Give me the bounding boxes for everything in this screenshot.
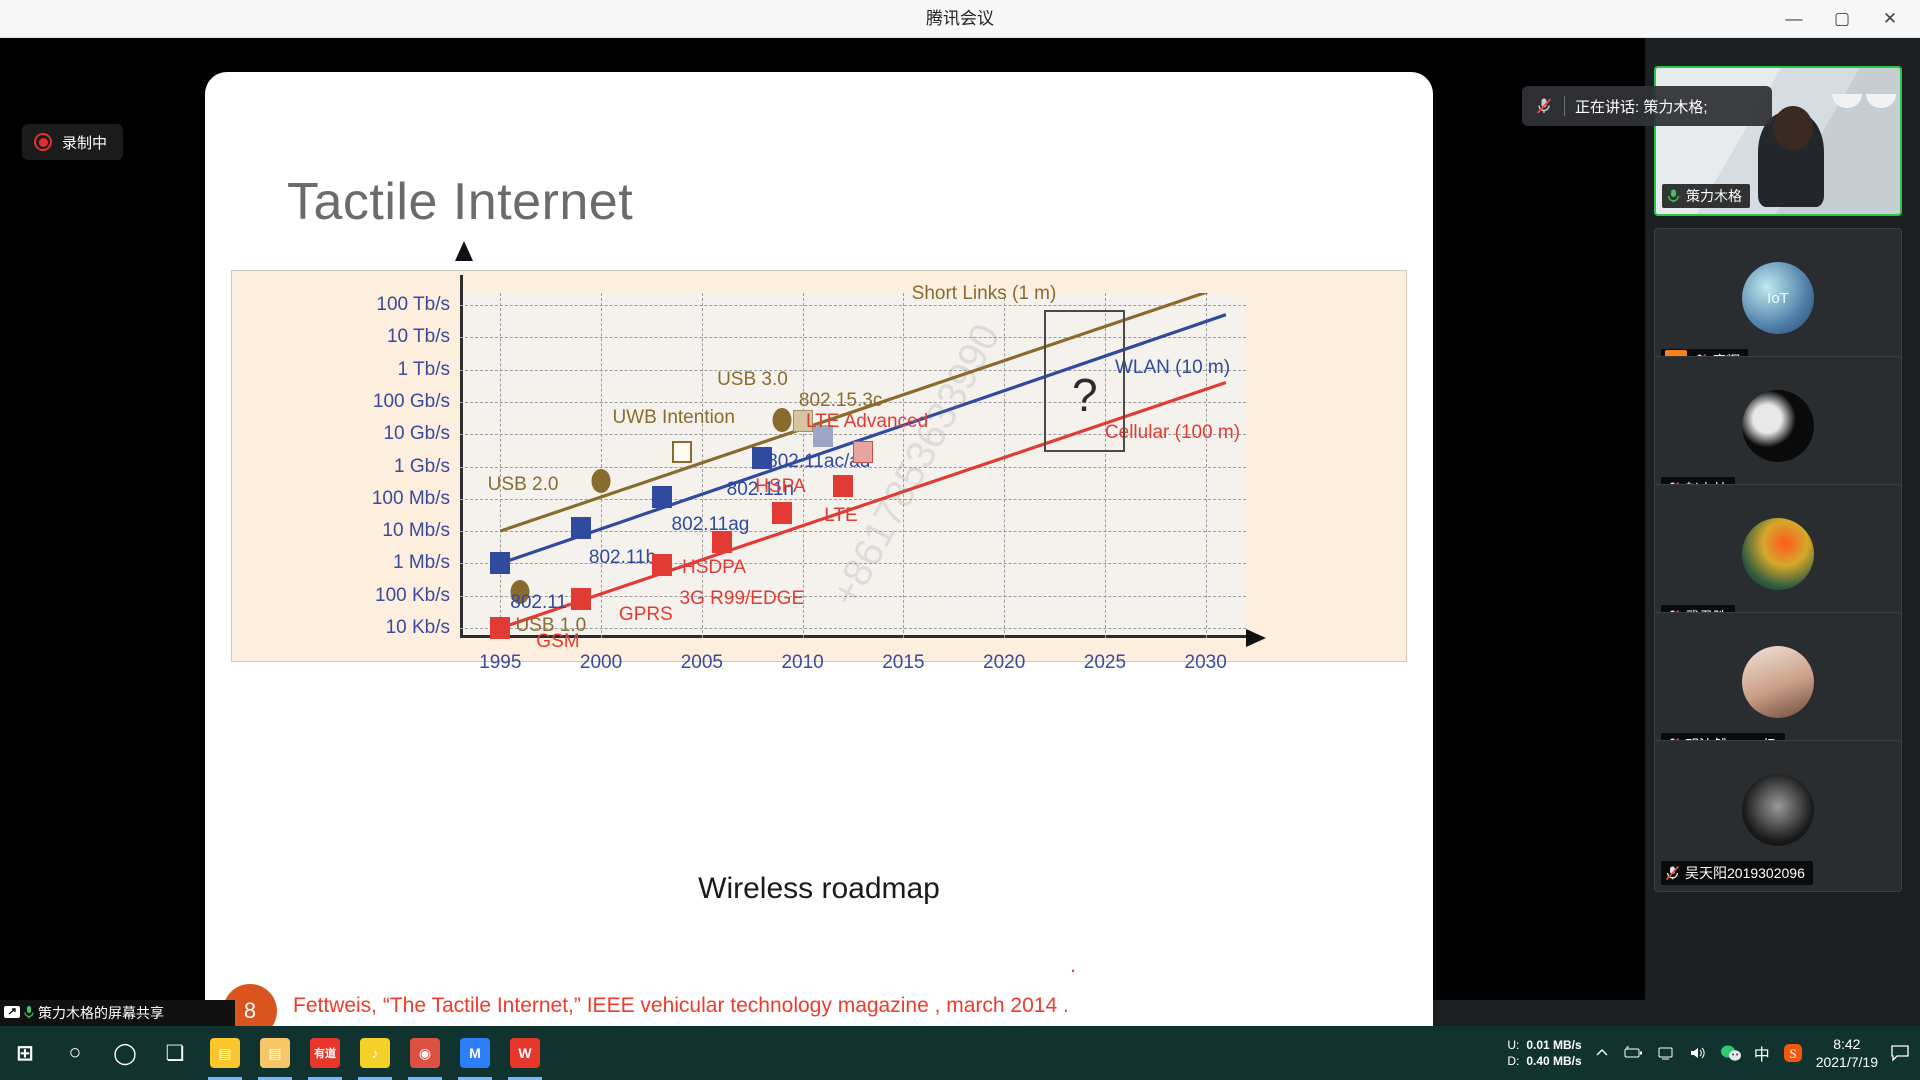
ime-indicator[interactable]: 中 bbox=[1754, 1041, 1770, 1065]
data-point-marker bbox=[773, 408, 792, 432]
y-axis-tick-label: 10 Kb/s bbox=[386, 617, 450, 639]
search-icon: ○ bbox=[60, 1038, 90, 1068]
youdao-app[interactable]: 有道 bbox=[300, 1026, 350, 1080]
data-point-marker bbox=[490, 617, 510, 639]
network-speed-widget: U:0.01 MB/s D:0.40 MB/s bbox=[1507, 1037, 1581, 1069]
volume-icon[interactable] bbox=[1688, 1045, 1708, 1061]
start-button[interactable]: ⊞ bbox=[0, 1026, 50, 1080]
x-axis-tick-label: 2005 bbox=[681, 652, 723, 674]
y-axis-tick-label: 10 Gb/s bbox=[383, 423, 450, 445]
app-title: 腾讯会议 bbox=[0, 0, 1920, 38]
window-controls: — ▢ ✕ bbox=[1772, 0, 1912, 38]
slide-title: Tactile Internet bbox=[287, 172, 633, 232]
slide-citation: Fettweis, “The Tactile Internet,” IEEE v… bbox=[293, 994, 1069, 1018]
data-point-label: LTE Advanced bbox=[806, 411, 928, 433]
record-icon bbox=[34, 133, 52, 151]
y-axis-tick-label: 1 Gb/s bbox=[394, 456, 450, 478]
data-point-marker bbox=[652, 486, 672, 508]
wps-app[interactable]: W bbox=[500, 1026, 550, 1080]
meeting-window: 录制中 Tactile Internet 10 Kb/s100 Kb/s1 Mb… bbox=[0, 38, 1920, 1038]
speaking-text: 正在讲话: 策力木格; bbox=[1575, 96, 1708, 117]
series-legend-label: WLAN (10 m) bbox=[1115, 357, 1230, 379]
x-axis-tick-label: 2020 bbox=[983, 652, 1025, 674]
data-point-label: 802.11b bbox=[589, 547, 656, 569]
mic-muted-icon bbox=[1666, 188, 1681, 204]
clock-widget[interactable]: 8:42 2021/7/19 bbox=[1816, 1035, 1878, 1071]
x-axis-tick-label: 2030 bbox=[1185, 652, 1227, 674]
download-value: 0.40 MB/s bbox=[1526, 1054, 1581, 1068]
battery-icon[interactable] bbox=[1622, 1045, 1644, 1061]
y-axis-tick-label: 100 Gb/s bbox=[373, 391, 450, 413]
tencent-meeting-icon: M bbox=[460, 1038, 490, 1068]
screen-share-indicator: 策力木格的屏幕共享 bbox=[0, 1000, 235, 1026]
speaking-toast: 正在讲话: 策力木格; bbox=[1522, 86, 1772, 126]
svg-text:S: S bbox=[1789, 1046, 1796, 1061]
data-point-marker bbox=[772, 502, 792, 524]
person-head bbox=[1773, 106, 1813, 150]
window-title-bar: 腾讯会议 — ▢ ✕ bbox=[0, 0, 1920, 38]
wps-icon: W bbox=[510, 1038, 540, 1068]
data-point-label: HSPA bbox=[755, 476, 805, 498]
windows-taskbar: ⊞○◯❏▤▤有道♪◉MW U:0.01 MB/s D:0.40 MB/s 中 S… bbox=[0, 1026, 1920, 1080]
sogou-input-icon[interactable]: S bbox=[1782, 1043, 1804, 1063]
data-point-label: 3G R99/EDGE bbox=[680, 588, 805, 610]
toast-divider bbox=[1564, 96, 1565, 116]
system-tray: U:0.01 MB/s D:0.40 MB/s 中 S 8:42 2021/7/… bbox=[1507, 1026, 1920, 1080]
participant-name: 吴天阳2019302096 bbox=[1685, 863, 1805, 883]
mic-muted-icon bbox=[1665, 865, 1680, 881]
wechat-icon[interactable] bbox=[1720, 1044, 1742, 1062]
qq-music-icon: ♪ bbox=[360, 1038, 390, 1068]
upload-value: 0.01 MB/s bbox=[1526, 1038, 1581, 1052]
notifications-icon[interactable] bbox=[1890, 1044, 1910, 1062]
avatar bbox=[1742, 390, 1814, 462]
share-label: 策力木格的屏幕共享 bbox=[38, 1003, 164, 1023]
search-button[interactable]: ○ bbox=[50, 1026, 100, 1080]
x-axis-tick-label: 2010 bbox=[781, 652, 823, 674]
data-point-label: GSM bbox=[536, 631, 579, 653]
display-icon[interactable] bbox=[1656, 1045, 1676, 1061]
recording-badge: 录制中 bbox=[22, 124, 123, 160]
data-point-marker bbox=[712, 531, 732, 553]
data-point-label: UWB Intention bbox=[612, 407, 735, 429]
file-explorer-app[interactable]: ▤ bbox=[250, 1026, 300, 1080]
recording-label: 录制中 bbox=[62, 132, 107, 153]
participant-name-chip: 策力木格 bbox=[1662, 184, 1750, 208]
y-axis-tick-label: 1 Tb/s bbox=[398, 359, 450, 381]
sticky-notes-icon: ▤ bbox=[210, 1038, 240, 1068]
y-axis-tick-label: 10 Tb/s bbox=[387, 326, 450, 348]
data-point-label: LTE bbox=[824, 505, 857, 527]
y-axis-tick-label: 1 Mb/s bbox=[393, 552, 450, 574]
y-axis-tick-label: 100 Mb/s bbox=[372, 488, 450, 510]
participant-rail[interactable]: 策力木格IoT唐辉赵志林武君胜邓沛然-2021级吴天阳2019302096 bbox=[1645, 38, 1920, 1038]
tencent-meeting-app[interactable]: M bbox=[450, 1026, 500, 1080]
data-point-label: HSDPA bbox=[682, 557, 746, 579]
wireless-roadmap-chart: 10 Kb/s100 Kb/s1 Mb/s10 Mb/s100 Mb/s1 Gb… bbox=[231, 270, 1407, 662]
download-label: D: bbox=[1507, 1054, 1519, 1068]
data-point-label: GPRS bbox=[619, 604, 673, 626]
series-legend-label: Cellular (100 m) bbox=[1105, 422, 1240, 444]
stray-mark: . bbox=[1070, 952, 1076, 978]
qq-music-app[interactable]: ♪ bbox=[350, 1026, 400, 1080]
data-point-marker bbox=[571, 517, 591, 539]
upload-label: U: bbox=[1507, 1038, 1519, 1052]
data-point-marker bbox=[592, 469, 611, 493]
data-point-marker bbox=[833, 475, 853, 497]
task-view-button[interactable]: ❏ bbox=[150, 1026, 200, 1080]
clock-time: 8:42 bbox=[1816, 1035, 1878, 1053]
sticky-notes-app[interactable]: ▤ bbox=[200, 1026, 250, 1080]
chrome-app[interactable]: ◉ bbox=[400, 1026, 450, 1080]
x-axis-tick-label: 1995 bbox=[479, 652, 521, 674]
participant-tile[interactable]: 吴天阳2019302096 bbox=[1654, 740, 1902, 892]
y-axis-tick-label: 100 Tb/s bbox=[376, 294, 450, 316]
close-button[interactable]: ✕ bbox=[1868, 4, 1912, 34]
data-point-marker bbox=[652, 554, 672, 576]
x-axis-tick-label: 2025 bbox=[1084, 652, 1126, 674]
avatar bbox=[1742, 646, 1814, 718]
screen-share-icon bbox=[4, 1006, 20, 1020]
taskbar-items[interactable]: ⊞○◯❏▤▤有道♪◉MW bbox=[0, 1026, 550, 1080]
maximize-button[interactable]: ▢ bbox=[1820, 4, 1864, 34]
clock-date: 2021/7/19 bbox=[1816, 1053, 1878, 1071]
data-point-label: 802.11ag bbox=[672, 514, 750, 536]
data-point-marker bbox=[571, 588, 591, 610]
y-axis-tick-label: 100 Kb/s bbox=[375, 585, 450, 607]
x-axis-tick-label: 2000 bbox=[580, 652, 622, 674]
chart-plot-area: 10 Kb/s100 Kb/s1 Mb/s10 Mb/s100 Mb/s1 Gb… bbox=[460, 293, 1246, 638]
participant-name-chip: 吴天阳2019302096 bbox=[1661, 861, 1813, 885]
cortana-icon: ◯ bbox=[110, 1038, 140, 1068]
question-mark-annotation: ? bbox=[1072, 368, 1098, 422]
data-point-label: USB 2.0 bbox=[488, 474, 559, 496]
youdao-icon: 有道 bbox=[310, 1038, 340, 1068]
start-icon: ⊞ bbox=[10, 1038, 40, 1068]
series-legend-label: Short Links (1 m) bbox=[912, 283, 1057, 305]
data-point-marker bbox=[490, 552, 510, 574]
data-point-marker bbox=[853, 441, 873, 463]
presentation-slide: Tactile Internet 10 Kb/s100 Kb/s1 Mb/s10… bbox=[205, 72, 1433, 1033]
muted-mic-icon bbox=[1534, 96, 1554, 116]
y-axis-arrow-icon bbox=[455, 241, 473, 261]
chart-caption: Wireless roadmap bbox=[205, 872, 1433, 906]
x-axis-arrow-icon bbox=[1246, 629, 1266, 647]
avatar bbox=[1742, 774, 1814, 846]
x-axis-tick-label: 2015 bbox=[882, 652, 924, 674]
data-point-label: 802.15.3c bbox=[799, 390, 882, 412]
mic-icon bbox=[23, 1005, 35, 1021]
avatar bbox=[1742, 518, 1814, 590]
file-explorer-icon: ▤ bbox=[260, 1038, 290, 1068]
shared-screen-stage: 录制中 Tactile Internet 10 Kb/s100 Kb/s1 Mb… bbox=[0, 38, 1645, 1000]
avatar: IoT bbox=[1742, 262, 1814, 334]
minimize-button[interactable]: — bbox=[1772, 4, 1816, 34]
chrome-icon: ◉ bbox=[410, 1038, 440, 1068]
chevron-up-icon[interactable] bbox=[1594, 1045, 1610, 1061]
data-point-marker bbox=[672, 441, 692, 463]
participant-name: 策力木格 bbox=[1686, 186, 1742, 206]
cortana-button[interactable]: ◯ bbox=[100, 1026, 150, 1080]
task-view-icon: ❏ bbox=[160, 1038, 190, 1068]
data-point-label: USB 3.0 bbox=[717, 369, 788, 391]
y-axis-tick-label: 10 Mb/s bbox=[382, 520, 450, 542]
data-point-label: 802.11 bbox=[510, 592, 567, 614]
